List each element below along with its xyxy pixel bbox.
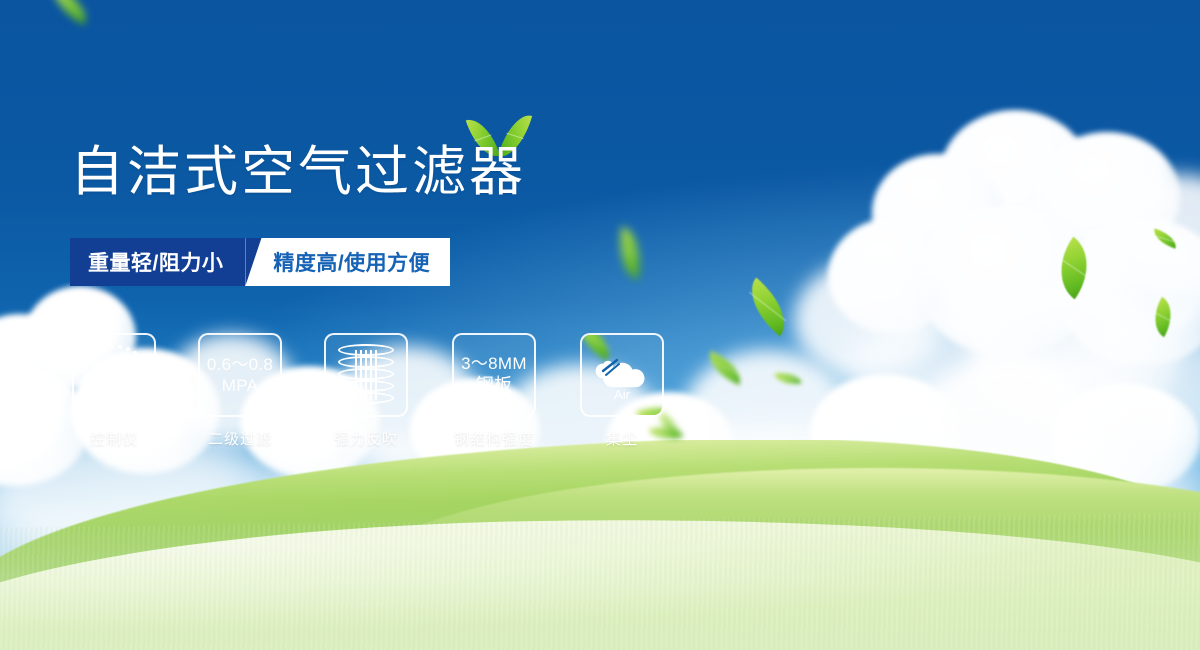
dial-label-no: NO [78,369,89,376]
grass-field [0,440,1200,650]
tagline-left: 重量轻/阻力小 [70,238,245,286]
dial-needle [109,356,120,396]
dial-label-off: OFF [134,397,149,404]
feature-item-steel-plate[interactable]: 3～8MM 钢板 钢结构强度 [448,333,540,449]
feature-label: 控制仪 [90,428,138,449]
steel-material: 钢板 [461,374,527,397]
feature-icon-box [324,333,408,417]
feature-item-control-dial[interactable]: NO OFF 控制仪 [70,333,158,449]
tagline-badge: 重量轻/阻力小 精度高/使用方便 [70,238,450,286]
feature-item-pressure[interactable]: 0.6～0.8 MPA 二级过滤 [196,333,284,449]
feature-item-blowback[interactable]: 强力反吹 [322,333,410,449]
filter-stack-icon [337,344,395,406]
pressure-text-icon: 0.6～0.8 MPA [207,354,273,397]
air-cloud-icon: Air [591,350,653,398]
feature-label: 集尘 [606,428,638,449]
leaf-accent [636,399,664,417]
feature-label: 强力反吹 [334,428,398,449]
feature-icon-box: 3～8MM 钢板 [452,333,536,417]
steel-plate-text-icon: 3～8MM 钢板 [461,353,527,397]
feature-item-dust-collection[interactable]: Air 集尘 [578,333,666,449]
product-banner: 自洁式空气过滤器 重量轻/阻力小 精度高/使用方便 [0,0,1200,650]
grass-texture [0,511,1200,650]
tagline-right: 精度高/使用方便 [271,238,450,286]
feature-label: 钢结构强度 [454,428,534,449]
tagline-divider [245,238,271,286]
feature-icon-box: 0.6～0.8 MPA [198,333,282,417]
feature-icon-box: Air [580,333,664,417]
feature-list: NO OFF 控制仪 0.6～0.8 MPA 二级过滤 [70,333,666,449]
pressure-value: 0.6～0.8 [207,354,273,375]
hill-near [0,511,1200,650]
air-label: Air [591,387,653,402]
steel-thickness: 3～8MM [461,353,527,374]
page-title: 自洁式空气过滤器 [70,145,526,199]
pressure-unit: MPA [207,375,273,396]
control-dial-icon: NO OFF [79,342,149,408]
feature-icon-box: NO OFF [72,333,156,417]
feature-label: 二级过滤 [208,428,272,449]
